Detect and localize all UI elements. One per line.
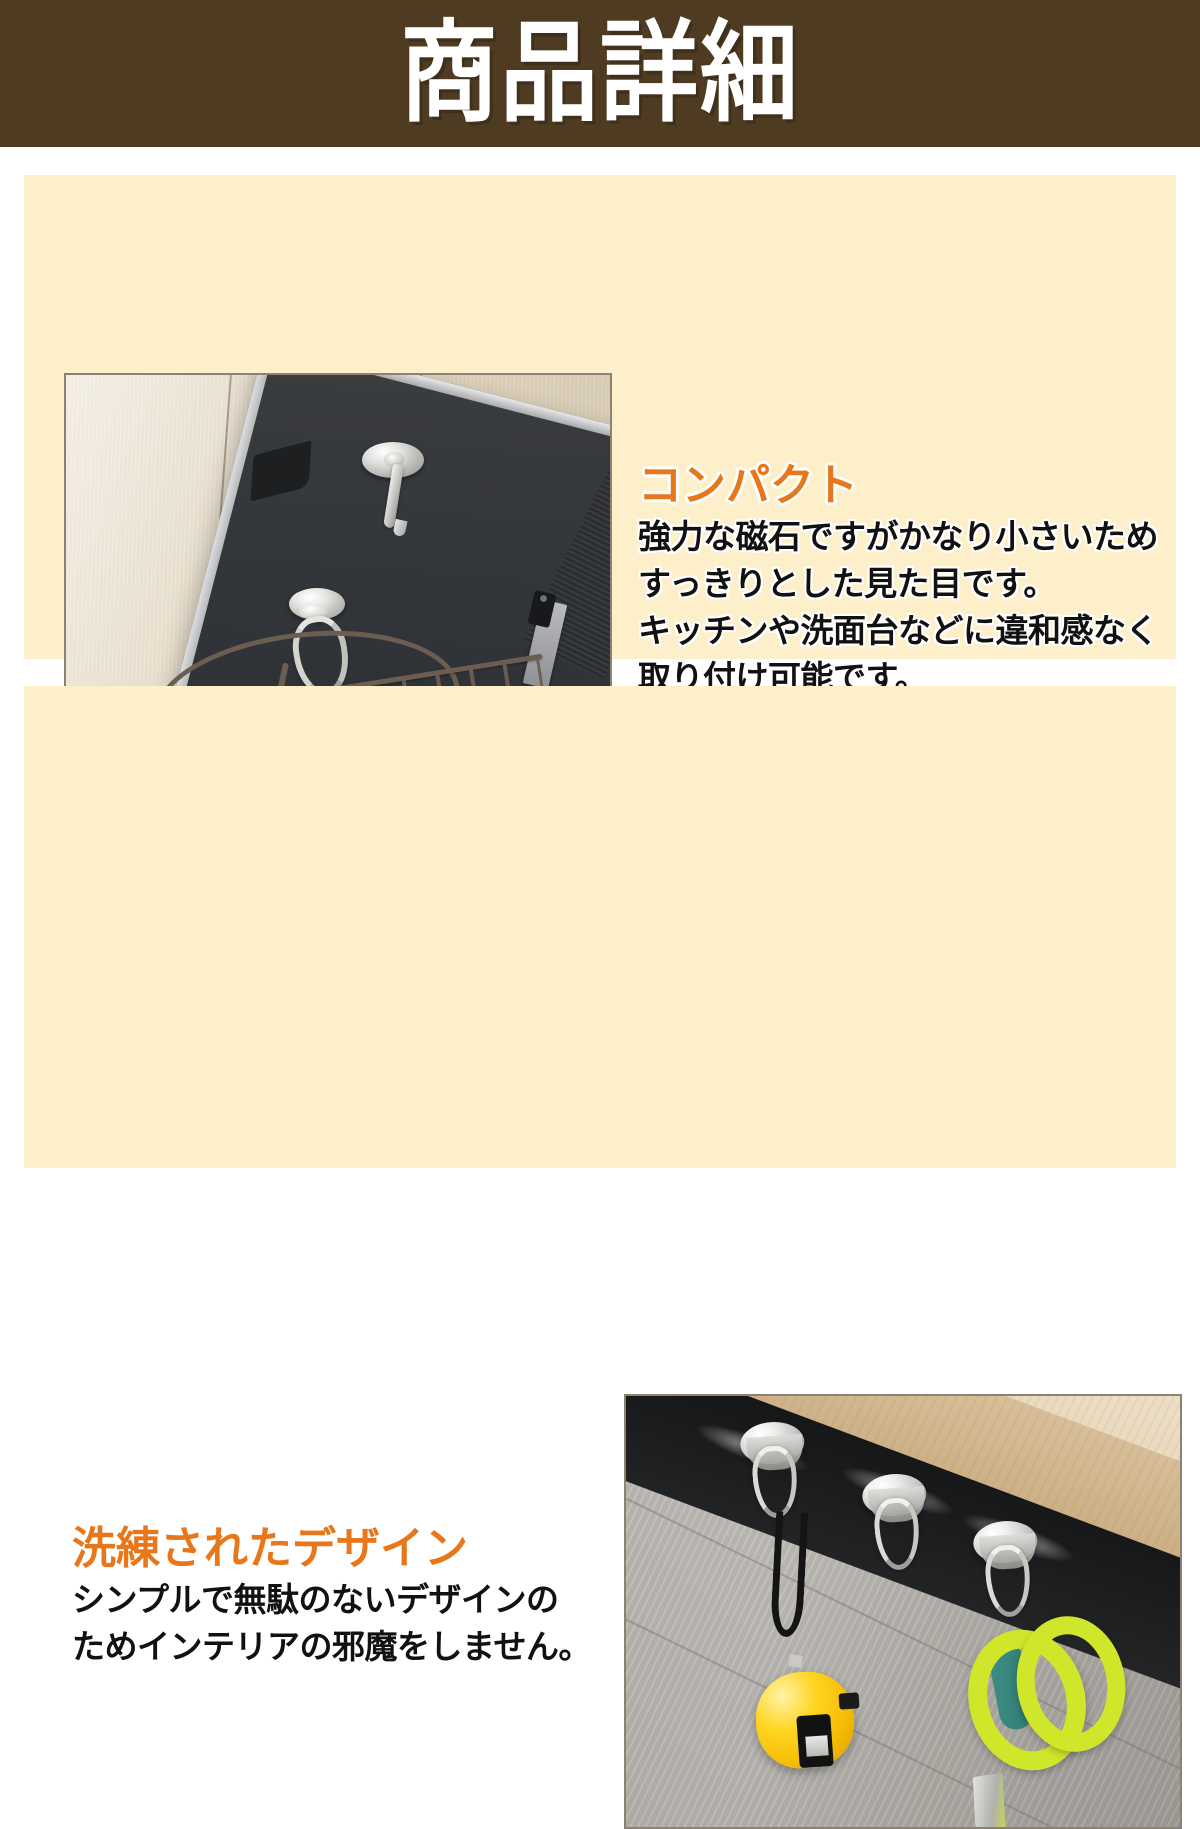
section-design-panel: 洗練されたデザイン シンプルで無駄のないデザインの ためインテリアの邪魔をしませ… xyxy=(24,686,1176,1168)
design-text-block: 洗練されたデザイン シンプルで無駄のないデザインの ためインテリアの邪魔をしませ… xyxy=(72,1524,620,1671)
magnet-hook-lower xyxy=(289,588,351,628)
header-banner: 商品詳細 xyxy=(0,0,1200,147)
tape-measure-blade xyxy=(805,1736,828,1757)
magnet-hook-upper xyxy=(362,442,424,482)
magnet-hook-1 xyxy=(739,1420,809,1514)
magnet-hook-3 xyxy=(972,1519,1042,1613)
product-detail-page: 商品詳細 xyxy=(0,0,1200,1200)
compact-body-line-1: 強力な磁石ですがかなり小さいため xyxy=(638,514,1186,561)
design-body: シンプルで無駄のないデザインの ためインテリアの邪魔をしません。 xyxy=(72,1577,620,1671)
compact-body-line-3: キッチンや洗面台などに違和感なく xyxy=(638,608,1186,655)
design-body-line-2: ためインテリアの邪魔をしません。 xyxy=(72,1624,620,1671)
scissors-blade xyxy=(973,1773,1007,1827)
section-compact-panel: コンパクト 強力な磁石ですがかなり小さいため すっきりとした見た目です。 キッチ… xyxy=(24,175,1176,659)
desk-edge-three-magnet-hooks-photo xyxy=(624,1394,1182,1829)
compact-text-block: コンパクト 強力な磁石ですがかなり小さいため すっきりとした見た目です。 キッチ… xyxy=(638,461,1186,702)
design-heading: 洗練されたデザイン xyxy=(72,1524,620,1573)
compact-body-line-2: すっきりとした見た目です。 xyxy=(638,561,1186,608)
tape-measure-strap-clip xyxy=(789,1654,804,1668)
design-body-line-1: シンプルで無駄のないデザインの xyxy=(72,1577,620,1624)
compact-body: 強力な磁石ですがかなり小さいため すっきりとした見た目です。 キッチンや洗面台な… xyxy=(638,514,1186,701)
tape-measure-lock-button xyxy=(839,1693,860,1710)
magnet-hook-2 xyxy=(861,1471,931,1565)
page-title: 商品詳細 xyxy=(400,19,800,129)
compact-heading: コンパクト xyxy=(638,461,1186,510)
